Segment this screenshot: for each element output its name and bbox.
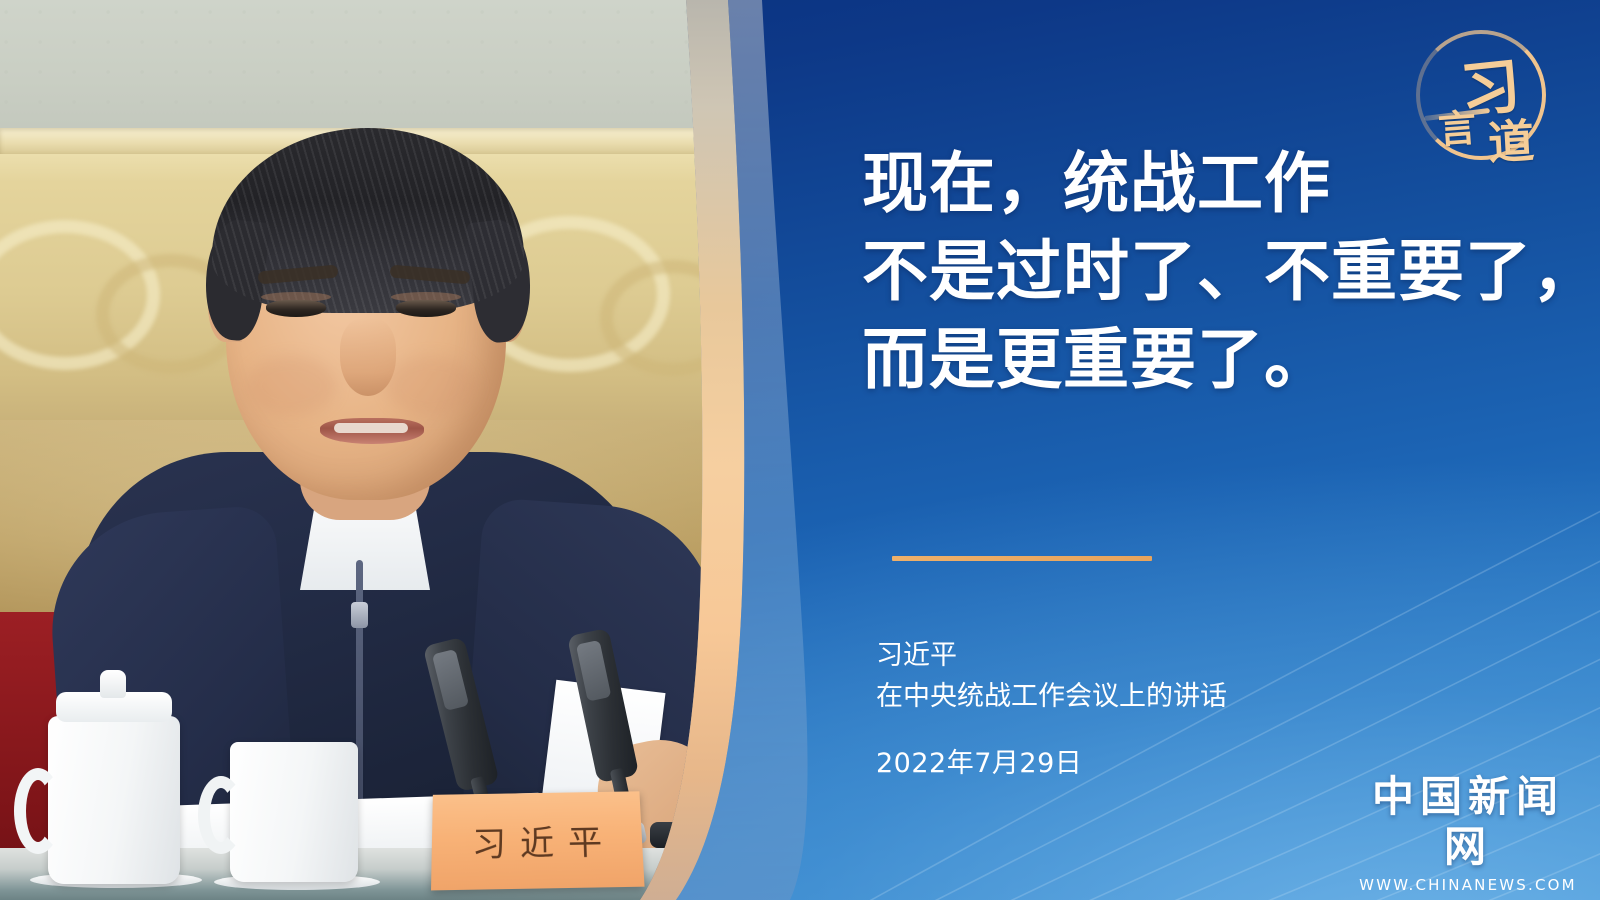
water-mug bbox=[230, 742, 358, 882]
logo-char-dao: 道 bbox=[1486, 105, 1535, 173]
teacup-handle bbox=[14, 768, 62, 854]
nameplate-text: 习近平 bbox=[458, 814, 617, 865]
brand-url: WWW.CHINANEWS.COM bbox=[1352, 876, 1584, 894]
subject-mouth bbox=[320, 418, 424, 444]
poster-canvas: 习近平 现在，统战工作 不是过时了、不重要了， 而是更重要了。 习近平 在中央统… bbox=[0, 0, 1600, 900]
quote-line-3: 而是更重要了。 bbox=[862, 316, 1600, 404]
attribution-block: 习近平 在中央统战工作会议上的讲话 2022年7月29日 bbox=[876, 636, 1227, 784]
subject-cheek-right bbox=[386, 356, 476, 416]
quote-line-2: 不是过时了、不重要了， bbox=[862, 228, 1600, 316]
attribution-speaker: 习近平 bbox=[876, 636, 1227, 676]
attribution-date: 2022年7月29日 bbox=[876, 744, 1227, 784]
subject-cheek-left bbox=[246, 356, 336, 416]
desk-nameplate: 习近平 bbox=[431, 791, 645, 890]
subject-eye-left bbox=[266, 300, 326, 317]
gold-divider bbox=[892, 556, 1152, 561]
lidded-teacup bbox=[48, 716, 180, 884]
subject-nose bbox=[340, 318, 396, 396]
teacup-lid-knob bbox=[100, 670, 126, 698]
subject-eye-right bbox=[396, 300, 456, 317]
chinanews-brand: 中国新闻网 WWW.CHINANEWS.COM bbox=[1352, 772, 1584, 894]
mug-handle bbox=[198, 776, 244, 854]
brand-name: 中国新闻网 bbox=[1352, 772, 1584, 872]
logo-char-yan: 言 bbox=[1436, 97, 1478, 155]
quote-block: 现在，统战工作 不是过时了、不重要了， 而是更重要了。 bbox=[852, 140, 1600, 404]
xiyandao-logo: 习 言 道 bbox=[1404, 24, 1556, 172]
attribution-occasion: 在中央统战工作会议上的讲话 bbox=[876, 676, 1227, 718]
